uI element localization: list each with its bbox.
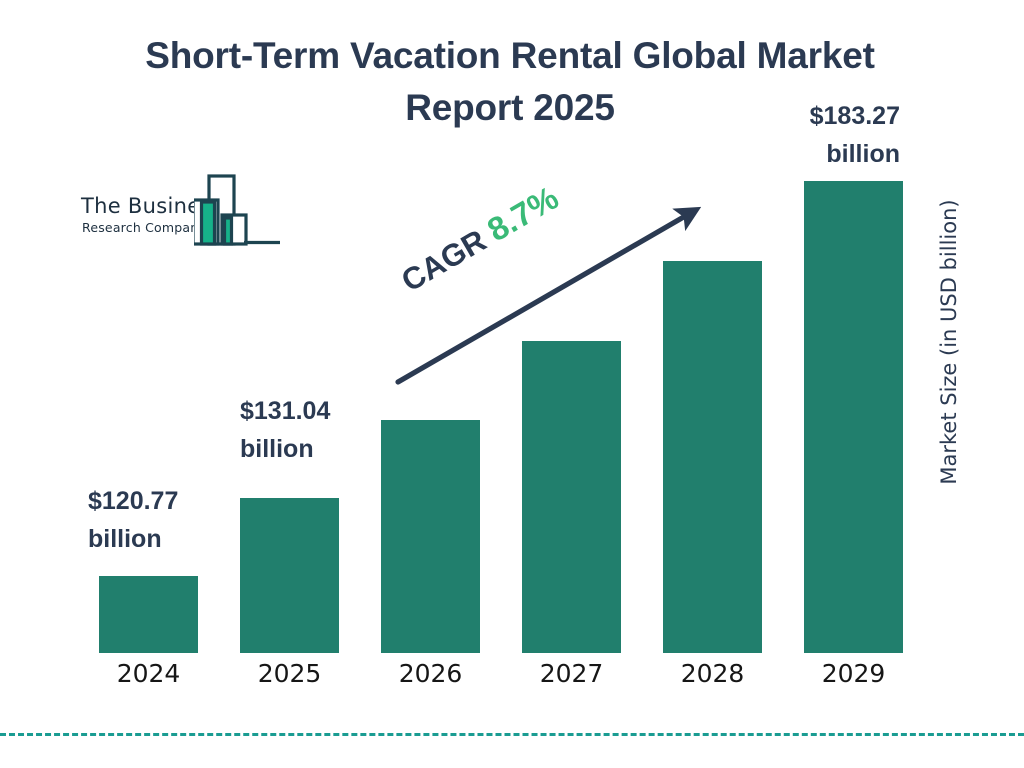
value-label-2029: $183.27 billion xyxy=(735,97,900,173)
xtick-2025: 2025 xyxy=(240,659,339,688)
value-label-2025: $131.04 billion xyxy=(240,392,405,468)
cagr-value-text: 8.7% xyxy=(481,179,565,249)
xtick-2028: 2028 xyxy=(663,659,762,688)
xtick-2027: 2027 xyxy=(522,659,621,688)
bar-2027[interactable] xyxy=(522,341,621,653)
value-label-2029-amount: $183.27 xyxy=(735,97,900,135)
xtick-2024: 2024 xyxy=(99,659,198,688)
y-axis-title: Market Size (in USD billion) xyxy=(937,177,961,507)
xtick-2029: 2029 xyxy=(804,659,903,688)
value-label-2025-amount: $131.04 xyxy=(240,392,405,430)
bar-2029[interactable] xyxy=(804,181,903,653)
value-label-2024-amount: $120.77 xyxy=(88,482,238,520)
footer-divider xyxy=(0,733,1024,736)
bar-2025[interactable] xyxy=(240,498,339,653)
bar-2028[interactable] xyxy=(663,261,762,653)
value-label-2024: $120.77 billion xyxy=(88,482,238,558)
bar-2024[interactable] xyxy=(99,576,198,653)
bar-chart: 2024 2025 2026 2027 2028 2029 $120.77 bi… xyxy=(0,0,1024,768)
value-label-2025-unit: billion xyxy=(240,430,405,468)
cagr-annotation: CAGR 8.7% xyxy=(394,179,565,300)
value-label-2024-unit: billion xyxy=(88,520,238,558)
xtick-2026: 2026 xyxy=(381,659,480,688)
value-label-2029-unit: billion xyxy=(735,135,900,173)
cagr-prefix-text: CAGR xyxy=(395,223,492,299)
